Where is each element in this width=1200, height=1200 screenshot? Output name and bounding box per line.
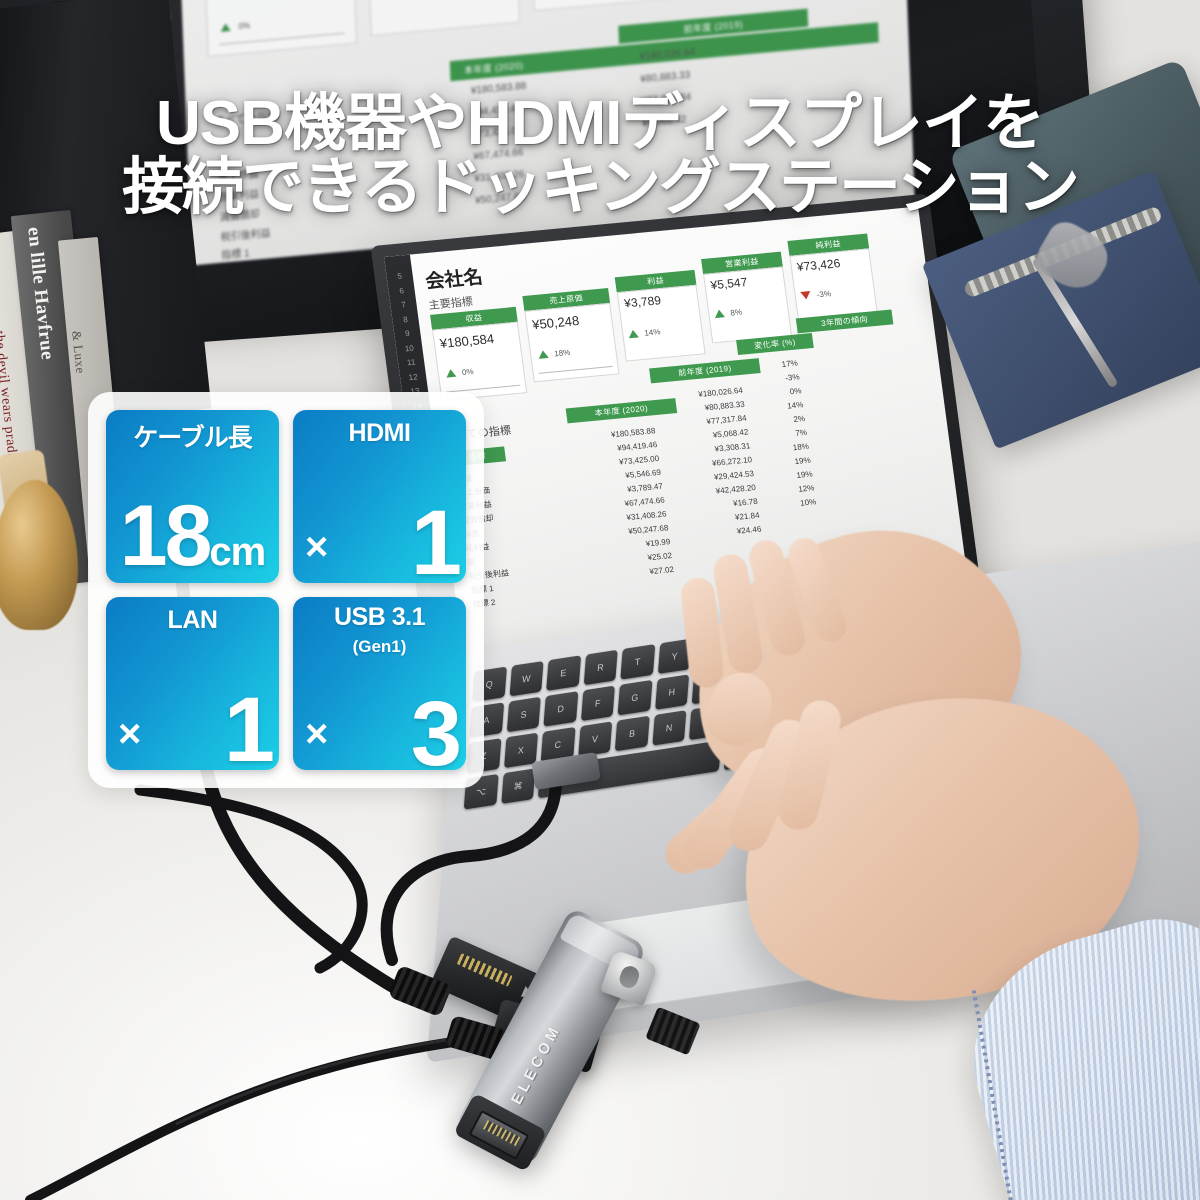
- usb-flash-drive-loop: [617, 964, 641, 991]
- spec-card-subtitle-usb: (Gen1): [293, 637, 466, 657]
- spec-card-multiplier-lan: ×: [118, 714, 141, 754]
- usbc-host-cable: [387, 780, 556, 960]
- headline-line-2: 接続できるドッキングステーション: [14, 156, 1186, 220]
- page-title: USB機器やHDMIディスプレイを 接続できるドッキングステーション: [0, 92, 1200, 220]
- spec-card-lan: LAN × 1: [106, 597, 279, 770]
- spec-card-value-lan: 1: [224, 684, 271, 770]
- cable-length-number: 18: [120, 488, 210, 583]
- spec-card-multiplier-usb: ×: [305, 714, 328, 754]
- spec-panel: ケーブル長 18cm HDMI × 1 LAN × 1 USB 3.1 (Gen…: [88, 392, 484, 788]
- usb-device-cable: [30, 1040, 466, 1200]
- spec-card-multiplier-hdmi: ×: [305, 527, 328, 567]
- headline-line-1: USB機器やHDMIディスプレイを: [156, 89, 1044, 158]
- spec-card-cable-length: ケーブル長 18cm: [106, 410, 279, 583]
- elecom-logo: ELECOM: [508, 1022, 564, 1108]
- spec-card-value-cable-length: 18cm: [106, 493, 279, 579]
- spec-card-title-hdmi: HDMI: [293, 419, 466, 448]
- cable-length-unit: cm: [209, 530, 265, 574]
- spec-card-title-lan: LAN: [106, 606, 279, 635]
- product-marketing-image: 56789101112131415161718192021222324 収益 ¥…: [0, 0, 1200, 1200]
- spec-card-hdmi: HDMI × 1: [293, 410, 466, 583]
- spec-card-title-cable-length: ケーブル長: [106, 418, 279, 454]
- spec-card-title-usb: USB 3.1: [293, 603, 466, 632]
- spec-card-value-hdmi: 1: [411, 497, 458, 583]
- hdmi-gold-contacts: [457, 953, 513, 987]
- spec-card-usb: USB 3.1 (Gen1) × 3: [293, 597, 466, 770]
- spec-card-value-usb: 3: [411, 688, 458, 770]
